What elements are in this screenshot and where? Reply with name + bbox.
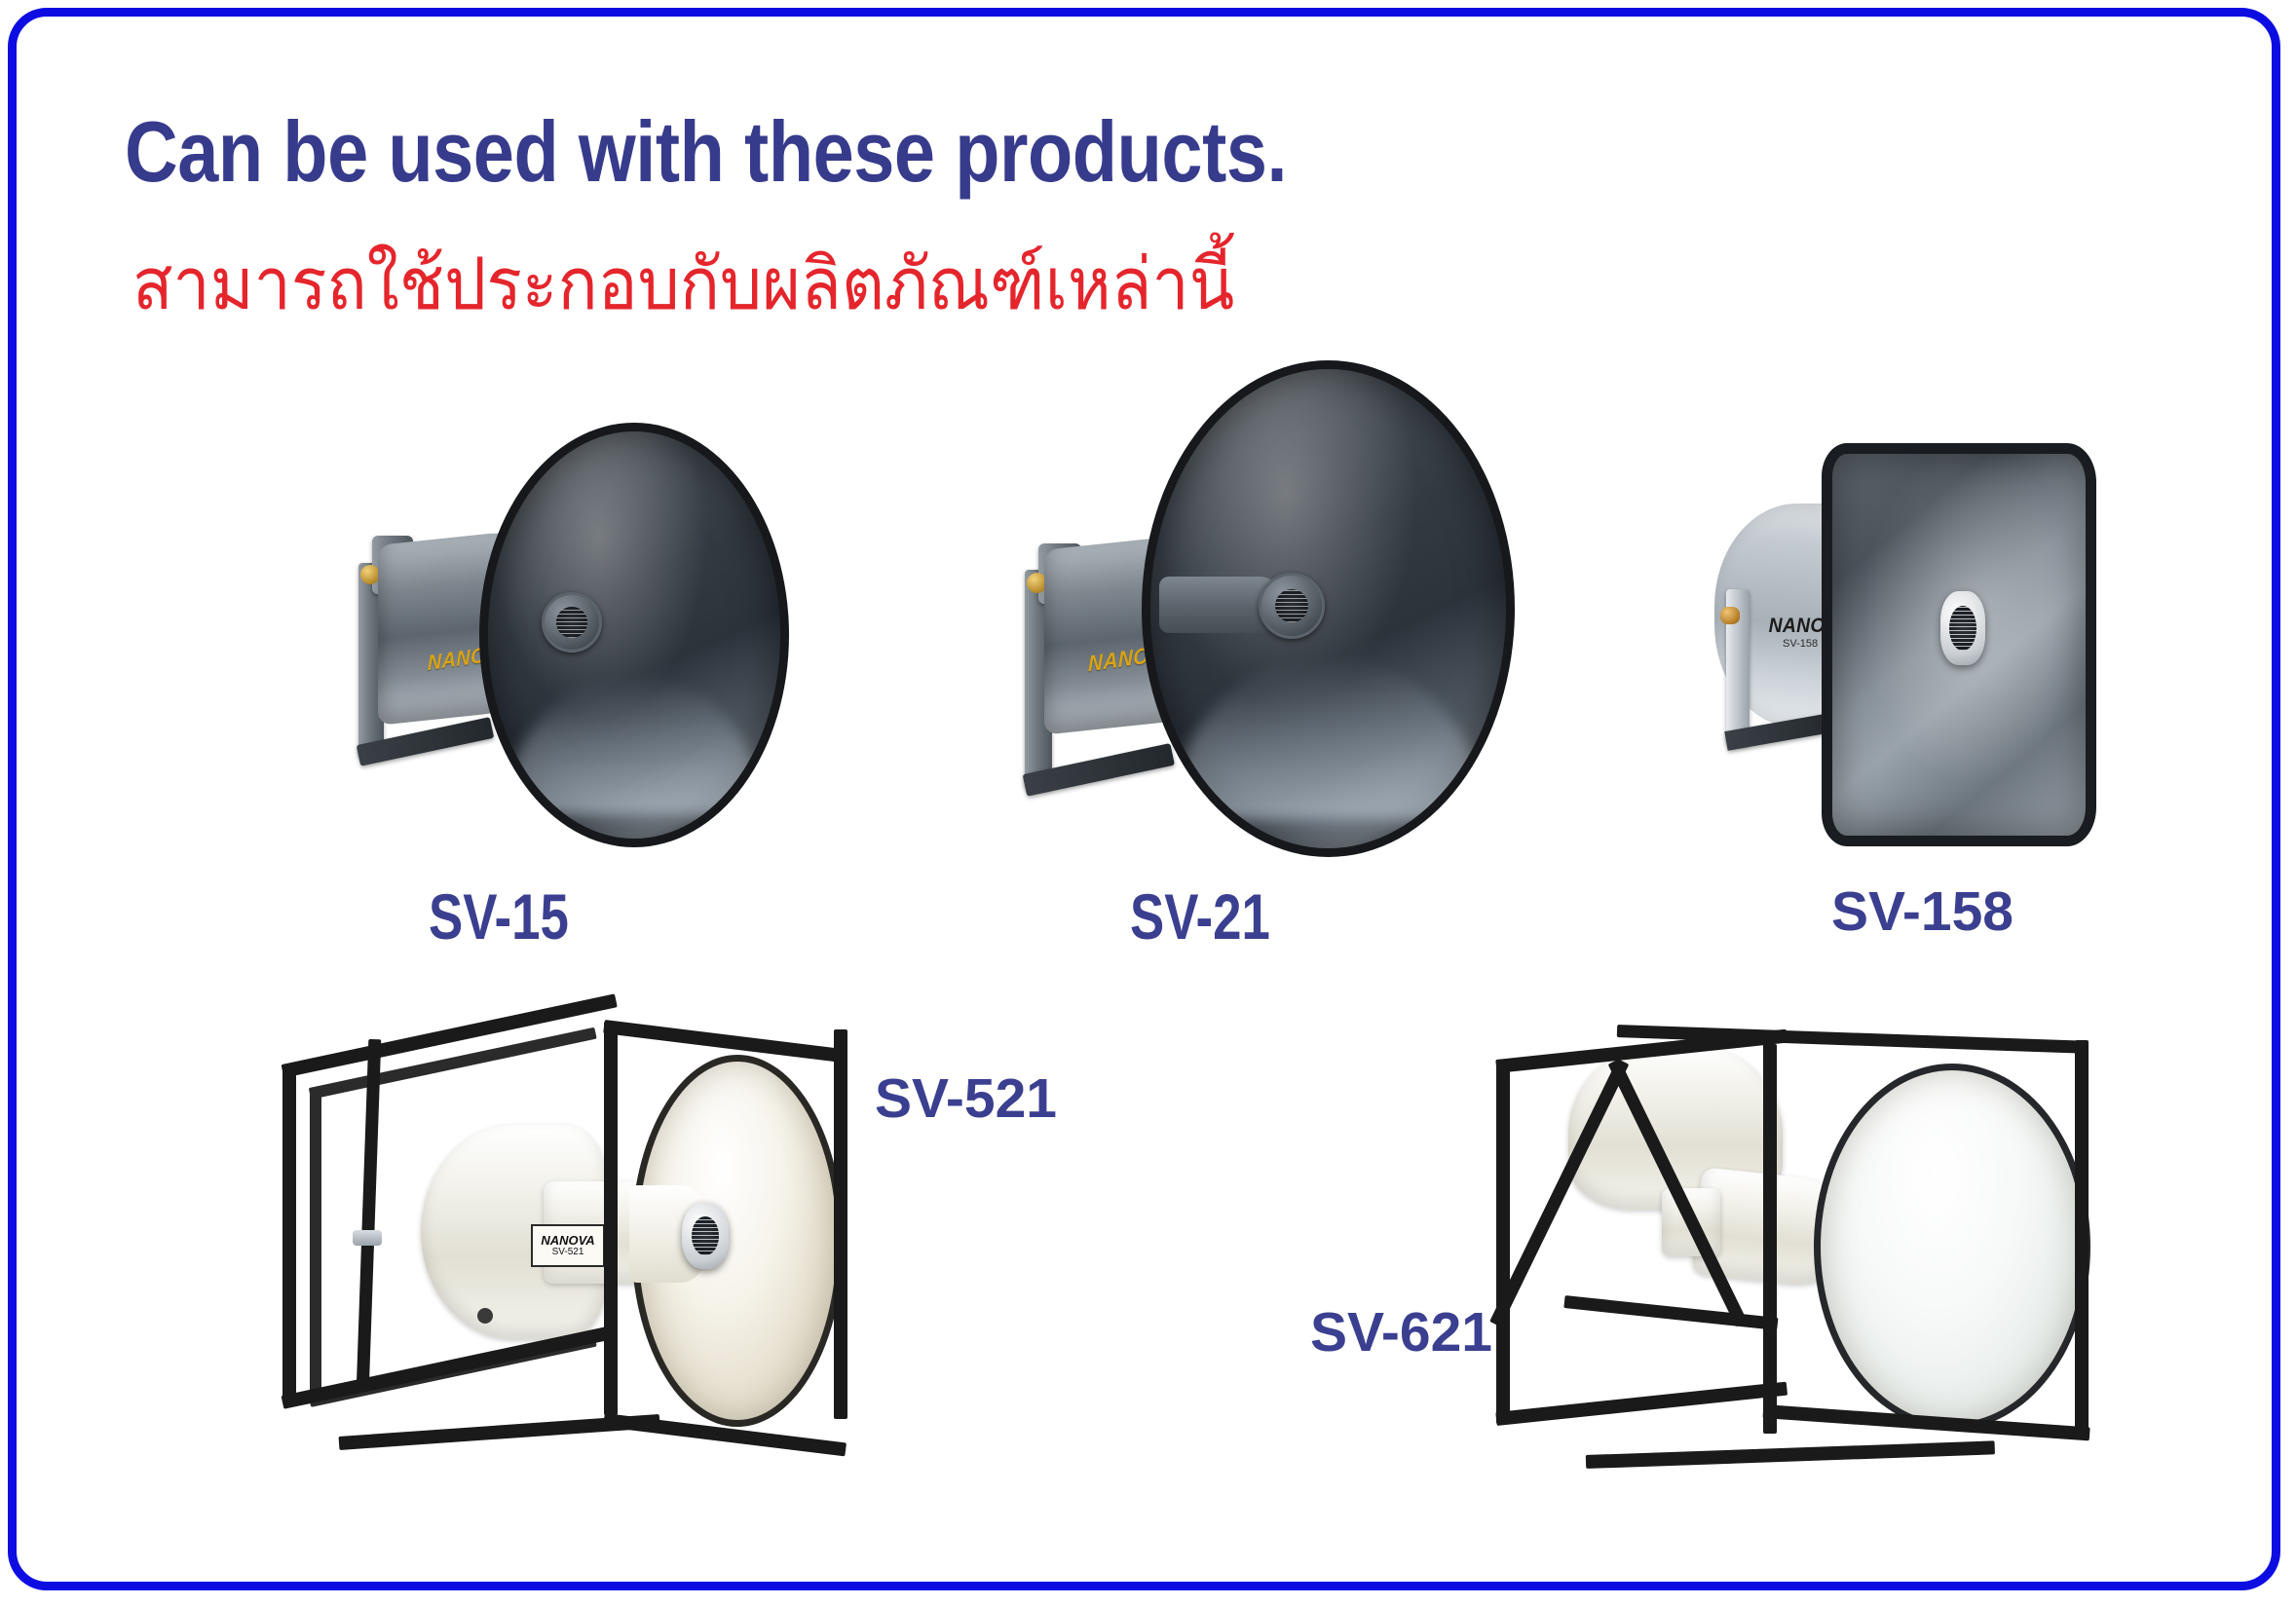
driver-badge-sv158 [1940,591,1985,665]
cage-bar-mid-right [604,1022,618,1415]
model-text-sv158: SV-158 [1783,638,1818,650]
cage-bar-bottom-mid [1563,1295,1778,1330]
bracket-bolt [1720,607,1740,624]
cage-bar-mid-left [357,1039,382,1392]
product-image-sv621 [1471,1003,2114,1480]
cage-bar-rear-left [310,1088,321,1398]
product-label-sv158: SV-158 [1831,879,2014,944]
nameplate-brand: NANOVA [541,1234,594,1248]
cage-bar-right-vertical [2075,1040,2089,1430]
product-label-sv621: SV-621 [1310,1300,1492,1364]
product-image-sv158: NANOVA SV-158 [1714,443,2231,833]
cage-bar-bottom-front [1495,1382,1788,1426]
horn-bell [479,423,789,847]
driver-badge-sv521 [682,1203,729,1269]
product-label-sv21: SV-21 [1130,879,1270,953]
cage-bar-far-right [834,1029,847,1419]
cage-bar-front-bottom [282,1325,618,1408]
product-label-sv15: SV-15 [429,879,569,953]
cage-bar-base-front [339,1414,660,1450]
driver-vent-hole [477,1308,493,1324]
cage-bar-left-vertical [1496,1062,1510,1424]
horn-cone-sv621 [1814,1064,2090,1430]
driver-badge-sv15 [542,592,602,653]
product-label-sv521: SV-521 [875,1066,1057,1131]
page-title: Can be used with these products. [125,102,1287,202]
product-image-sv21: NANOVA [994,360,1510,847]
page-subtitle-thai: สามารถใช้ประกอบกับผลิตภัณฑ์เหล่านี้ [132,226,1234,341]
driver-badge-sv21 [1259,573,1325,639]
cage-bar-mid-vertical [1763,1044,1777,1434]
cage-bar-base-lower [1586,1440,1995,1469]
product-image-sv521: NANOVA SV-521 [282,979,886,1466]
poster-canvas: Can be used with these products. สามารถใ… [0,0,2296,1606]
nameplate-model: SV-521 [552,1248,584,1258]
bracket-bolt [360,565,380,584]
product-image-sv15: NANOVA [321,419,779,838]
cage-bar-front-left [282,1068,296,1401]
nameplate-sv521: NANOVA SV-521 [531,1224,605,1267]
cage-bolt-sv521 [353,1230,382,1246]
